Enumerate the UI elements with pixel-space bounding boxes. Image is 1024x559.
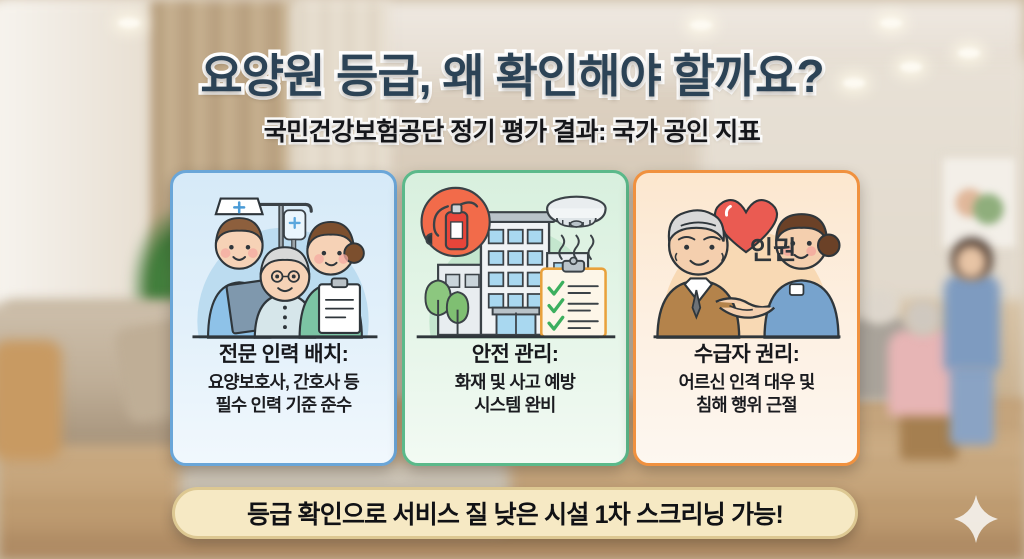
card-staffing[interactable]: 전문 인력 배치: 요양보호사, 간호사 등 필수 인력 기준 준수 [170,170,397,466]
card-safety[interactable]: 안전 관리: 화재 및 사고 예방 시스템 완비 [402,170,629,466]
safety-body-line1: 화재 및 사고 예방 [411,371,620,395]
bottom-banner-text: 등급 확인으로 서비스 질 낮은 시설 1차 스크리닝 가능! [247,495,783,531]
staffing-text: 전문 인력 배치: 요양보호사, 간호사 등 필수 인력 기준 준수 [173,341,394,426]
card-rights[interactable]: 인권 수급자 권리: 어르신 인격 대우 및 침해 행위 근절 [633,170,860,466]
safety-heading: 안전 관리: [411,343,620,368]
rights-illustration: 인권 [636,173,857,341]
staffing-illustration [173,173,394,341]
safety-text: 안전 관리: 화재 및 사고 예방 시스템 완비 [405,341,626,426]
rights-body-line2: 침해 행위 근절 [642,394,851,418]
page-subtitle: 국민건강보험공단 정기 평가 결과: 국가 공인 지표 [0,112,1024,148]
poster-canvas: 요양원 등급, 왜 확인해야 할까요? 국민건강보험공단 정기 평가 결과: 국… [0,0,1024,559]
rights-illustration-label: 인권 [750,237,797,265]
poster-content: 요양원 등급, 왜 확인해야 할까요? 국민건강보험공단 정기 평가 결과: 국… [0,0,1024,559]
staffing-heading: 전문 인력 배치: [179,343,388,368]
card-list: 전문 인력 배치: 요양보호사, 간호사 등 필수 인력 기준 준수 [170,170,860,466]
rights-text: 수급자 권리: 어르신 인격 대우 및 침해 행위 근절 [636,341,857,426]
sparkle-star-icon [952,493,1000,545]
safety-illustration [405,173,626,341]
rights-heading: 수급자 권리: [642,343,851,368]
staffing-body-line2: 필수 인력 기준 준수 [179,394,388,418]
bottom-banner[interactable]: 등급 확인으로 서비스 질 낮은 시설 1차 스크리닝 가능! [172,487,858,539]
page-title: 요양원 등급, 왜 확인해야 할까요? [0,40,1024,106]
staffing-body-line1: 요양보호사, 간호사 등 [179,371,388,395]
safety-body-line2: 시스템 완비 [411,394,620,418]
rights-body-line1: 어르신 인격 대우 및 [642,371,851,395]
